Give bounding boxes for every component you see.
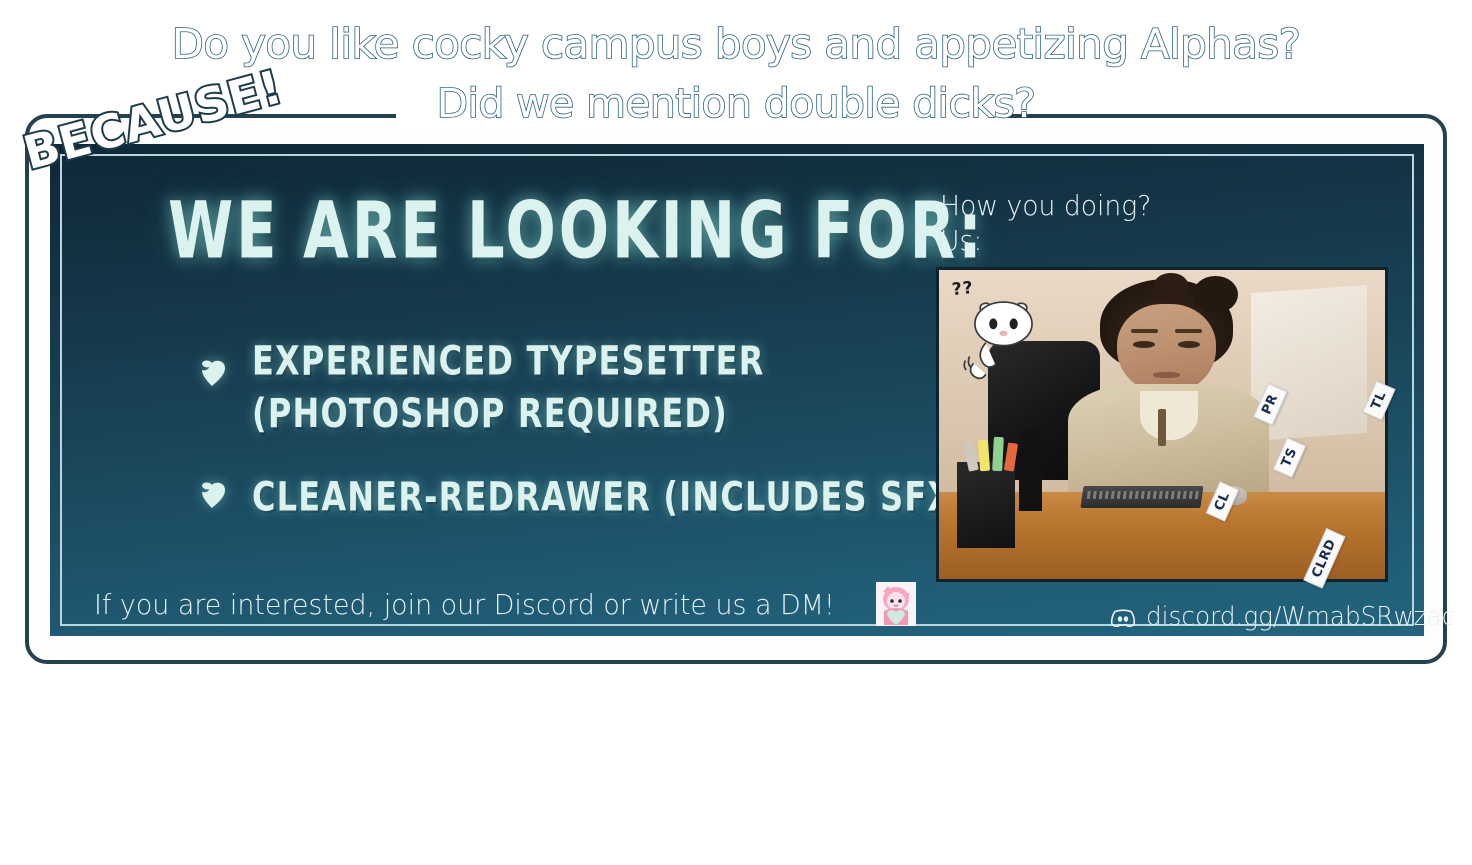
discord-url[interactable]: discord.gg/WmabSRwzac (1146, 602, 1455, 632)
office-photo: ?? (936, 267, 1388, 582)
photo-pen-cup (957, 462, 1015, 549)
poster-canvas: Do you like cocky campus boys and appeti… (0, 0, 1472, 707)
half-heart-bullet-icon (196, 478, 230, 512)
roles-list: EXPERIENCED TYPESETTER (PHOTOSHOP REQUIR… (196, 334, 936, 564)
caption-line-1: How you doing? (940, 188, 1151, 223)
list-item: EXPERIENCED TYPESETTER (PHOTOSHOP REQUIR… (196, 334, 936, 418)
caption-line-2: Us: (940, 223, 1151, 258)
role-1-line-2: (PHOTOSHOP REQUIRED) (252, 389, 728, 437)
list-item-label: EXPERIENCED TYPESETTER (PHOTOSHOP REQUIR… (252, 334, 765, 440)
chibi-girl-emoji (876, 582, 916, 626)
photo-hair-bun-small (1153, 273, 1189, 301)
cta-text: If you are interested, join our Discord … (94, 588, 835, 621)
discord-icon (1110, 607, 1136, 627)
photo-hair-bun (1193, 276, 1238, 313)
photo-chair-stem (1019, 431, 1041, 511)
photo-inner: ?? (939, 270, 1385, 579)
frame-gap-right (686, 106, 1002, 128)
headline-line-1: Do you like cocky campus boys and appeti… (0, 14, 1472, 74)
role-1-line-1: EXPERIENCED TYPESETTER (252, 337, 765, 385)
photo-woman-face (1117, 304, 1215, 394)
frame-gap-left (396, 106, 686, 128)
photo-necklace (1158, 409, 1167, 446)
photo-keyboard (1080, 486, 1203, 508)
question-marks-sticker: ?? (951, 278, 975, 300)
list-item: CLEANER-REDRAWER (INCLUDES SFXS) (196, 470, 936, 512)
list-item-label: CLEANER-REDRAWER (INCLUDES SFXS) (252, 470, 993, 523)
photo-mouth (1153, 372, 1180, 378)
cat-sticker-icon (952, 298, 1059, 400)
page-title: WE ARE LOOKING FOR: (168, 186, 985, 277)
cta-row: If you are interested, join our Discord … (94, 582, 916, 626)
photo-brow-left (1131, 329, 1158, 333)
half-heart-bullet-icon (196, 356, 230, 390)
right-caption: How you doing? Us: (940, 188, 1151, 258)
photo-brow-right (1175, 329, 1202, 333)
photo-collar (1140, 391, 1198, 440)
photo-pen-3 (992, 437, 1004, 471)
discord-link-row[interactable]: discord.gg/WmabSRwzac (1110, 602, 1472, 632)
